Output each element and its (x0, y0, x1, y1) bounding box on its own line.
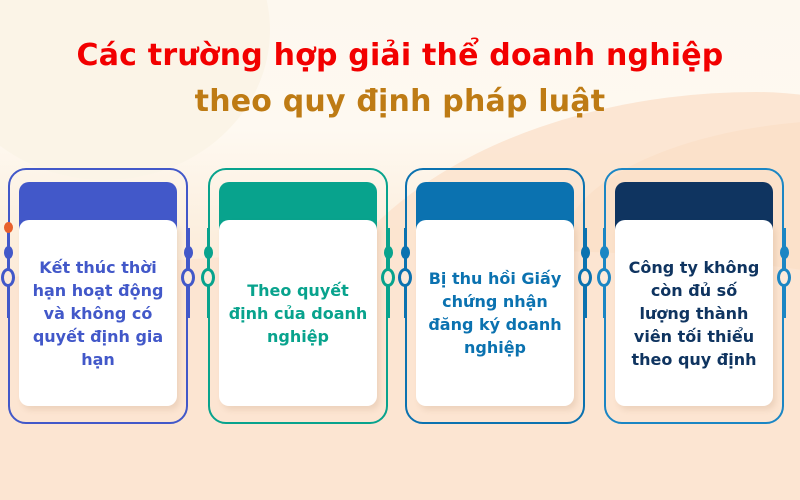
card-item[interactable]: Công ty không còn đủ số lượng thành viên… (604, 168, 784, 424)
card-item[interactable]: Bị thu hồi Giấy chứng nhận đăng ký doanh… (405, 168, 585, 424)
connector-ring (381, 268, 395, 287)
title-line-primary: Các trường hợp giải thể doanh nghiệp (0, 36, 800, 76)
card-connector-right (181, 228, 195, 318)
card-body: Theo quyết định của doanh nghiệp (219, 220, 377, 406)
infographic-canvas: Các trường hợp giải thể doanh nghiệp the… (0, 0, 800, 500)
connector-dot (384, 246, 393, 259)
connector-dot (401, 246, 410, 259)
card-body: Kết thúc thời hạn hoạt động và không có … (19, 220, 177, 406)
card-label: Công ty không còn đủ số lượng thành viên… (623, 256, 765, 371)
card-label: Bị thu hồi Giấy chứng nhận đăng ký doanh… (424, 267, 566, 359)
connector-ring (777, 268, 791, 287)
connector-ring (398, 268, 412, 287)
card-body: Bị thu hồi Giấy chứng nhận đăng ký doanh… (416, 220, 574, 406)
connector-dot (581, 246, 590, 259)
card-connector-left (201, 228, 215, 318)
card-item[interactable]: Theo quyết định của doanh nghiệp (208, 168, 388, 424)
cards-row: Kết thúc thời hạn hoạt động và không có … (0, 168, 800, 428)
connector-dot (780, 246, 789, 259)
card-connector-left (597, 228, 611, 318)
title-block: Các trường hợp giải thể doanh nghiệp the… (0, 36, 800, 122)
card-label: Kết thúc thời hạn hoạt động và không có … (27, 256, 169, 371)
connector-ring (181, 268, 195, 287)
card-connector-right (578, 228, 592, 318)
connector-ring (578, 268, 592, 287)
connector-dot (4, 246, 13, 259)
card-connector-right (777, 228, 791, 318)
connector-ring (201, 268, 215, 287)
connector-accent-dot (4, 222, 13, 233)
connector-ring (1, 268, 15, 287)
connector-ring (597, 268, 611, 287)
card-connector-left (1, 228, 15, 318)
connector-dot (204, 246, 213, 259)
connector-dot (184, 246, 193, 259)
card-label: Theo quyết định của doanh nghiệp (227, 279, 369, 348)
connector-dot (600, 246, 609, 259)
title-line-secondary: theo quy định pháp luật (0, 82, 800, 122)
card-connector-left (398, 228, 412, 318)
card-item[interactable]: Kết thúc thời hạn hoạt động và không có … (8, 168, 188, 424)
card-connector-right (381, 228, 395, 318)
card-body: Công ty không còn đủ số lượng thành viên… (615, 220, 773, 406)
